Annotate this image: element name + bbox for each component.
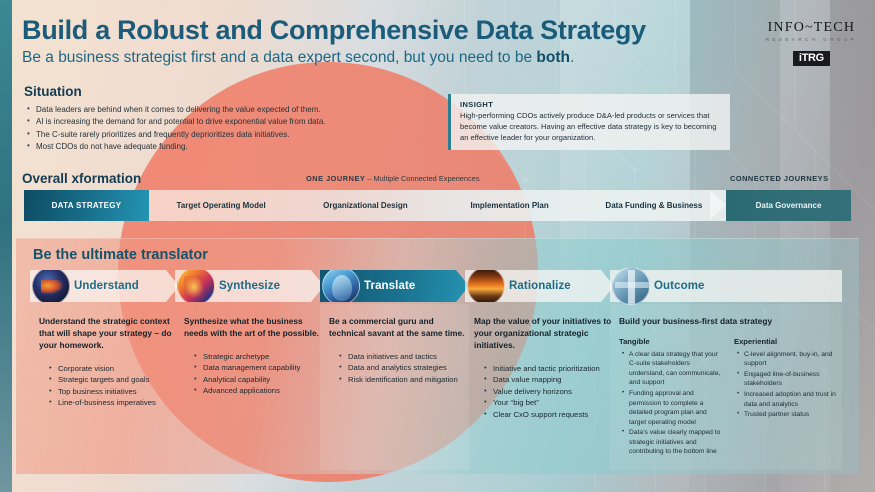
poster-header: Build a Robust and Comprehensive Data St… [22, 16, 646, 67]
page-subtitle: Be a business strategist first and a dat… [22, 49, 646, 68]
list-item: The C-suite rarely prioritizes and frequ… [24, 129, 434, 141]
list-item: Corporate vision [49, 363, 179, 375]
stage-heading: Be a commercial guru and technical savan… [329, 316, 469, 340]
stage-header-translate[interactable]: Translate [320, 270, 469, 302]
insight-callout: INSIGHT High-performing CDOs actively pr… [448, 94, 730, 150]
list-item: Trusted partner status [737, 410, 839, 420]
stage-heading: Synthesize what the business needs with … [184, 316, 324, 340]
journey-step-target-operating-model[interactable]: Target Operating Model [149, 190, 293, 221]
stage-heading: Build your business-first data strategy [619, 316, 839, 328]
stage-understand[interactable]: Understand Understand the strategic cont… [30, 270, 179, 470]
stage-bullet-list: Corporate vision Strategic targets and g… [39, 363, 179, 409]
insight-label: INSIGHT [460, 100, 721, 109]
stage-bullet-list: Data initiatives and tactics Data and an… [329, 351, 469, 386]
outcome-group-experiential: Experiential C-level alignment, buy-in, … [734, 337, 839, 458]
logo-badge: iTRG [793, 51, 830, 66]
journey-caption-left: ONE JOURNEY – Multiple Connected Experie… [306, 174, 480, 183]
list-item: Strategic targets and goals [49, 374, 179, 386]
list-item: Advanced applications [194, 385, 324, 397]
journey-step-data-strategy[interactable]: DATA STRATEGY [24, 190, 149, 221]
stage-body: Understand the strategic context that wi… [39, 316, 179, 409]
stage-body: Build your business-first data strategy … [619, 316, 839, 458]
list-item: Data management capability [194, 362, 324, 374]
outcome-groups: Tangible A clear data strategy that your… [619, 337, 839, 458]
translator-panel: Be the ultimate translator Understand Un… [16, 238, 859, 474]
list-item: Value delivery horizons [484, 386, 614, 398]
list-item: C-level alignment, buy-in, and support [737, 350, 839, 369]
stage-heading: Map the value of your initiatives to you… [474, 316, 614, 352]
list-item: Your “big bet” [484, 397, 614, 409]
list-item: Line-of-business imperatives [49, 397, 179, 409]
journey-step-data-governance[interactable]: Data Governance [726, 190, 851, 221]
stage-bullet-list: Initiative and tactic prioritization Dat… [474, 363, 614, 421]
list-item: Engaged line-of-business stakeholders [737, 370, 839, 389]
blue-statue-thumbnail-icon [322, 267, 360, 305]
list-item: Top business initiatives [49, 386, 179, 398]
stage-outcome[interactable]: Outcome Build your business-first data s… [610, 270, 850, 470]
journey-caption-left-rest: – Multiple Connected Experiences [365, 174, 479, 183]
logo-wordmark: INFO~TECH [766, 20, 857, 36]
logo-tagline: RESEARCH GROUP [766, 37, 857, 42]
list-item: Data leaders are behind when it comes to… [24, 104, 434, 116]
decorative-left-teal-bar [0, 0, 12, 492]
outcome-group-heading: Tangible [619, 337, 724, 346]
list-item: Increased adoption and trust in data and… [737, 390, 839, 409]
list-item: Data value mapping [484, 374, 614, 386]
stage-heading: Understand the strategic context that wi… [39, 316, 179, 352]
list-item: Clear CxO support requests [484, 409, 614, 421]
stage-header-rationalize[interactable]: Rationalize [465, 270, 614, 302]
brain-globe-thumbnail-icon [32, 267, 70, 305]
list-item: Data initiatives and tactics [339, 351, 469, 363]
sunset-horizon-thumbnail-icon [467, 267, 505, 305]
list-item: Funding approval and permission to compl… [622, 389, 724, 427]
page-title: Build a Robust and Comprehensive Data St… [22, 16, 646, 46]
outcome-bullet-list: A clear data strategy that your C-suite … [619, 350, 724, 457]
brand-logo: INFO~TECH RESEARCH GROUP iTRG [766, 20, 857, 66]
insight-body: High-performing CDOs actively produce D&… [460, 110, 721, 143]
stage-body: Synthesize what the business needs with … [184, 316, 324, 397]
situation-heading: Situation [24, 84, 434, 99]
journey-heading: Overall xformation [22, 171, 141, 186]
stage-rationalize[interactable]: Rationalize Map the value of your initia… [465, 270, 614, 470]
stage-body: Be a commercial guru and technical savan… [329, 316, 469, 385]
list-item: Strategic archetype [194, 351, 324, 363]
list-item: Risk identification and mitigation [339, 374, 469, 386]
translator-panel-title: Be the ultimate translator [33, 247, 208, 263]
list-item: Data and analytics strategies [339, 362, 469, 374]
list-item: Initiative and tactic prioritization [484, 363, 614, 375]
subtitle-post: . [570, 49, 574, 66]
list-item: A clear data strategy that your C-suite … [622, 350, 724, 388]
outcome-bullet-list: C-level alignment, buy-in, and support E… [734, 350, 839, 420]
stage-header-outcome[interactable]: Outcome [610, 270, 842, 302]
stage-body: Map the value of your initiatives to you… [474, 316, 614, 421]
journey-step-organizational-design[interactable]: Organizational Design [293, 190, 437, 221]
journey-progress-bar: DATA STRATEGY Target Operating Model Org… [24, 190, 851, 221]
city-buildings-thumbnail-icon [612, 267, 650, 305]
subtitle-pre: Be a business strategist first and a dat… [22, 49, 536, 66]
stage-header-synthesize[interactable]: Synthesize [175, 270, 324, 302]
outcome-group-heading: Experiential [734, 337, 839, 346]
infographic-poster: Build a Robust and Comprehensive Data St… [0, 0, 875, 492]
situation-section: Situation Data leaders are behind when i… [24, 84, 434, 154]
situation-list: Data leaders are behind when it comes to… [24, 104, 434, 154]
list-item: Most CDOs do not have adequate funding. [24, 141, 434, 153]
subtitle-emphasis: both [536, 49, 570, 66]
colorful-head-thumbnail-icon [177, 267, 215, 305]
journey-caption-left-bold: ONE JOURNEY [306, 174, 365, 183]
translator-stages: Understand Understand the strategic cont… [30, 270, 845, 470]
stage-translate[interactable]: Translate Be a commercial guru and techn… [320, 270, 469, 470]
journey-step-implementation-plan[interactable]: Implementation Plan [438, 190, 582, 221]
stage-bullet-list: Strategic archetype Data management capa… [184, 351, 324, 397]
journey-step-data-funding-business[interactable]: Data Funding & Business [582, 190, 726, 221]
journey-caption-right: CONNECTED JOURNEYS [730, 174, 829, 183]
stage-synthesize[interactable]: Synthesize Synthesize what the business … [175, 270, 324, 470]
list-item: AI is increasing the demand for and pote… [24, 116, 434, 128]
stage-header-understand[interactable]: Understand [30, 270, 179, 302]
list-item: Analytical capability [194, 374, 324, 386]
list-item: Data’s value clearly mapped to strategic… [622, 428, 724, 457]
outcome-group-tangible: Tangible A clear data strategy that your… [619, 337, 724, 458]
